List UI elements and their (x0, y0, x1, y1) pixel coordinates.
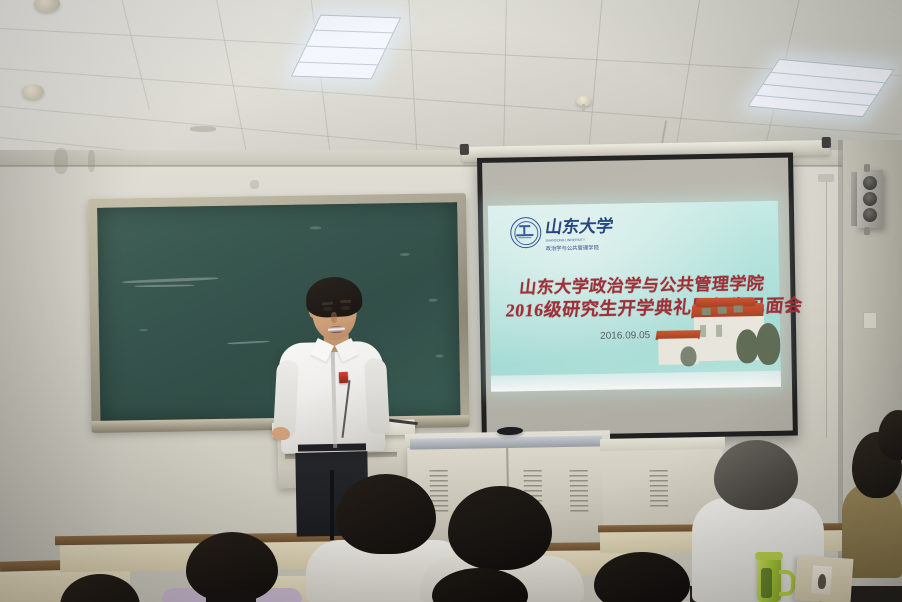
classroom-photo-scene: 山东大学 SHANDONG UNIVERSITY 政治学与公共管理学院 山东大学… (0, 0, 902, 602)
chalk-smudge (309, 226, 321, 229)
building-window (700, 325, 706, 337)
presenter-eye (341, 306, 350, 310)
cup-contents (761, 568, 772, 598)
presenter-belt (298, 443, 366, 451)
presenter-nose (331, 312, 337, 323)
cabinet-vent (650, 470, 669, 510)
chalk-smudge (435, 354, 443, 357)
speaker-bolt (864, 227, 870, 235)
building-tree (736, 329, 759, 363)
presenter-leg-gap (330, 470, 334, 540)
university-logo-icon (510, 217, 542, 249)
wall-speaker (857, 170, 883, 228)
speaker-driver-icon (863, 208, 877, 222)
building-window (716, 325, 722, 337)
chalk-smudge (139, 329, 148, 331)
chalk-smudge (429, 299, 438, 302)
cup-lid[interactable] (755, 552, 783, 560)
wall-stain (88, 150, 95, 172)
chalk-smudge (227, 340, 269, 344)
chalk-smudge (122, 277, 218, 284)
audience-ponytail (206, 588, 256, 602)
slide-logo-subtitle: 政治学与公共管理学院 (546, 243, 599, 252)
chalk-smudge (400, 253, 410, 256)
building-window (734, 305, 743, 312)
roller-end-cap (460, 144, 469, 155)
projection-screen: 山东大学 SHANDONG UNIVERSITY 政治学与公共管理学院 山东大学… (477, 152, 798, 440)
wall-crack (826, 178, 827, 438)
speaker-driver-icon (863, 176, 877, 190)
wall-outlet (863, 312, 877, 329)
wall-mark (250, 180, 259, 189)
logo-mark (518, 237, 531, 239)
cabinet-vent (570, 470, 589, 514)
audience-head (336, 474, 436, 554)
speaker-bolt (864, 164, 870, 172)
presenter-eye (323, 307, 332, 311)
building-tree (756, 323, 781, 365)
building-tree (680, 346, 696, 366)
presenter-badge (339, 372, 349, 383)
audience-head (448, 486, 552, 570)
smoke-detector-icon (22, 84, 44, 99)
presenter-right-arm (364, 357, 390, 434)
audience-head (714, 440, 798, 510)
wall-stain (54, 148, 68, 174)
roller-end-cap (822, 137, 831, 148)
building-window (718, 307, 727, 314)
slide-logo-text: 山东大学 (544, 218, 614, 236)
slide-logo-latin: SHANDONG UNIVERSITY (545, 238, 585, 243)
cup-handle (779, 570, 795, 596)
detector-stem (582, 104, 585, 111)
logo-mark (516, 234, 533, 236)
speaker-driver-icon (863, 192, 877, 206)
projector-mount (818, 174, 834, 182)
logo-mark (523, 226, 525, 234)
wall-mark (190, 126, 216, 132)
building-window (702, 308, 711, 315)
av-cabinet-top-secondary (600, 437, 725, 451)
chalk-smudge (134, 284, 194, 287)
projected-slide: 山东大学 SHANDONG UNIVERSITY 政治学与公共管理学院 山东大学… (488, 201, 781, 391)
